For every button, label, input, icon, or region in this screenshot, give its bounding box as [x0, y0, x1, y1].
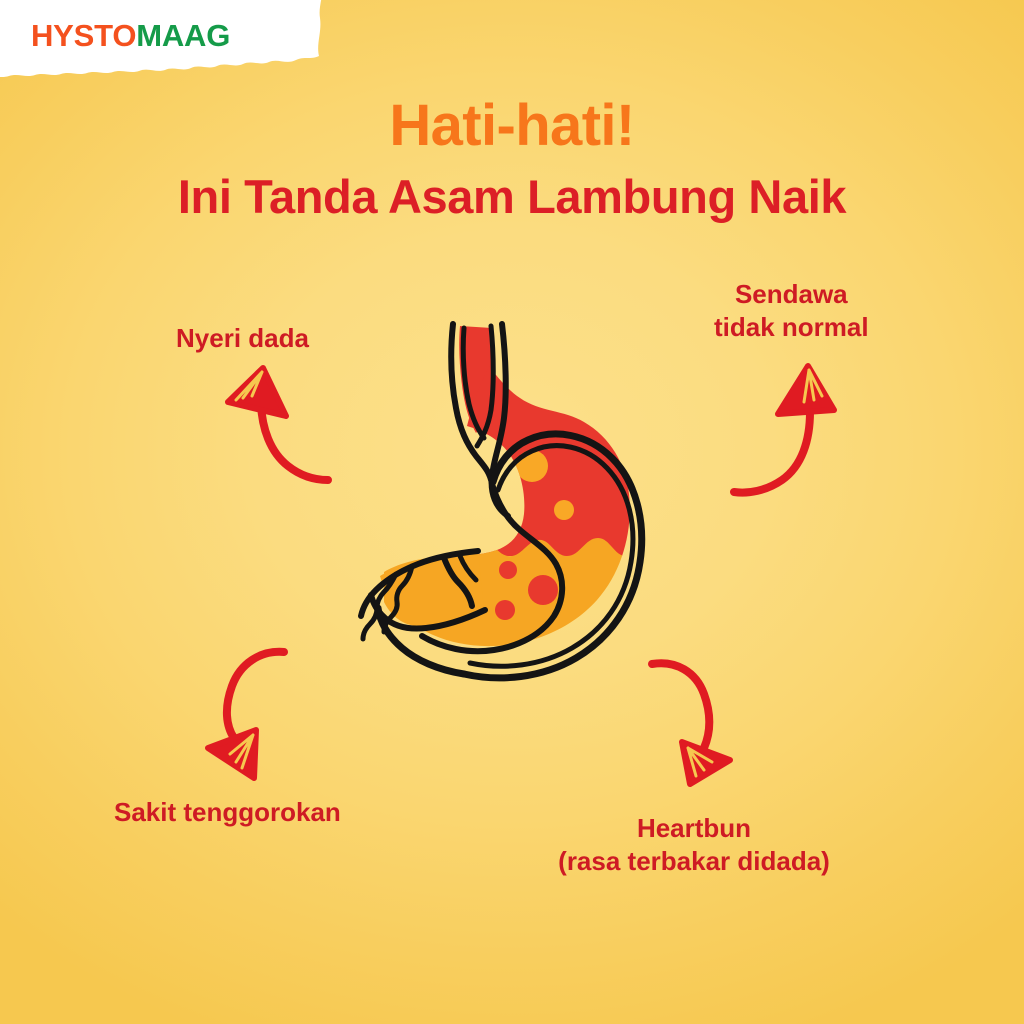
callout-sendawa: Sendawa tidak normal: [714, 278, 869, 345]
page-subtitle: Ini Tanda Asam Lambung Naik: [0, 172, 1024, 221]
logo-text-maag: MAAG: [136, 18, 230, 53]
poster-canvas: HYSTOMAAG Hati-hati! Ini Tanda Asam Lamb…: [0, 0, 1024, 1024]
page-title: Hati-hati!: [0, 96, 1024, 157]
stomach-illustration: [292, 318, 712, 718]
content-bubble: [528, 575, 558, 605]
callout-heartbun: Heartbun (rasa terbakar didada): [514, 812, 874, 879]
callout-nyeri-dada: Nyeri dada: [176, 322, 309, 355]
content-bubble: [495, 600, 515, 620]
brand-logo: HYSTOMAAG: [31, 20, 230, 51]
logo-text-hysto: HYSTO: [31, 18, 136, 53]
arrow-sendawa: [722, 358, 868, 514]
acid-bubble: [554, 500, 574, 520]
callout-sakit-tenggorokan: Sakit tenggorokan: [114, 796, 341, 829]
content-bubble: [499, 561, 517, 579]
